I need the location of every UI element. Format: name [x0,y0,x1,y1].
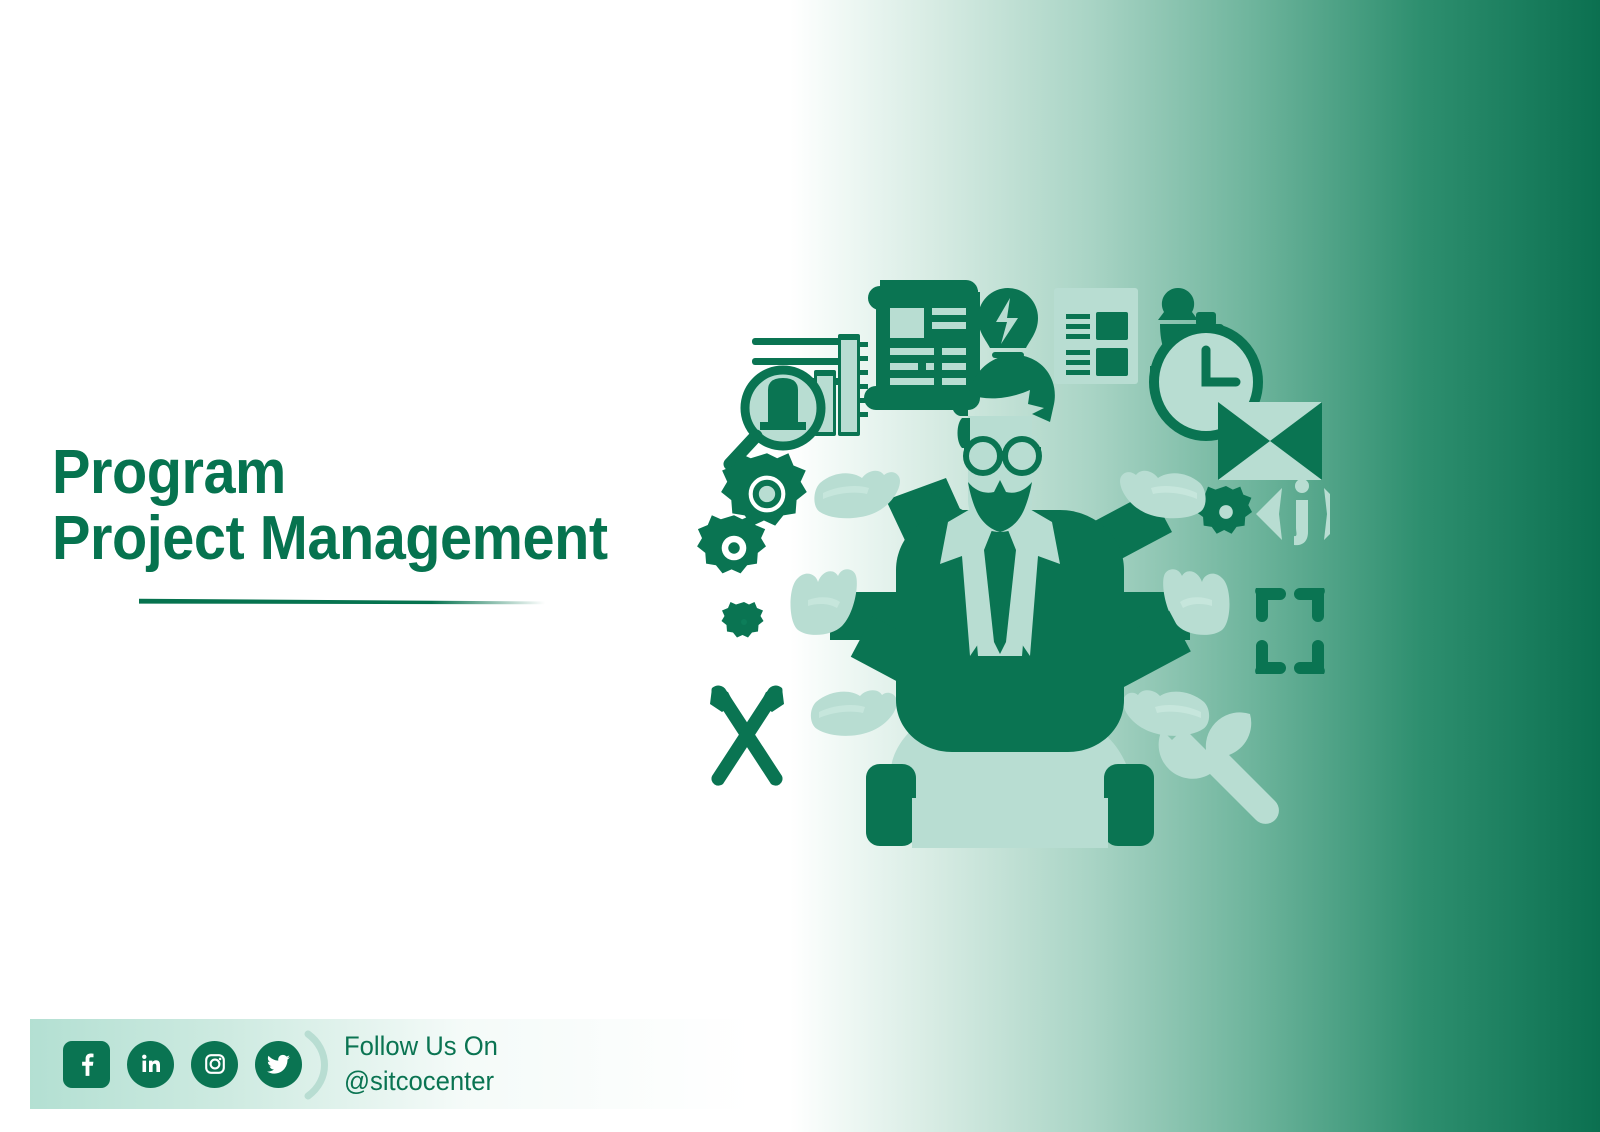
list-card-icon [1054,288,1138,384]
twitter-icon[interactable] [255,1041,302,1088]
facebook-icon[interactable] [63,1041,110,1088]
crop-frame-icon [1255,588,1325,674]
title-underline [52,598,632,605]
title-line-1: Program [52,440,647,506]
envelope-mail-icon [1218,402,1322,480]
illustration: .dk { fill: #0a7452; } .dk2 { fill: #0b7… [690,250,1330,850]
document-scroll-icon [864,280,980,410]
magnifier-bar-chart-icon [730,334,868,464]
social-links [63,1022,302,1106]
linkedin-icon[interactable] [127,1041,174,1088]
arc-separator [302,1030,342,1100]
gear-small-icon [722,602,764,638]
page-title: Program Project Management [52,440,692,572]
title-line-2: Project Management [52,506,647,572]
social-handle: @sitcocenter [344,1064,498,1099]
crossed-tools-icon [710,686,784,786]
torso-suit [896,500,1124,752]
slide-canvas: Program Project Management .dk { fill: #… [0,0,1600,1132]
follow-us-text: Follow Us On @sitcocenter [344,1029,498,1099]
instagram-icon[interactable] [191,1041,238,1088]
follow-label: Follow Us On [344,1029,498,1064]
code-brackets-icon [1256,479,1330,545]
